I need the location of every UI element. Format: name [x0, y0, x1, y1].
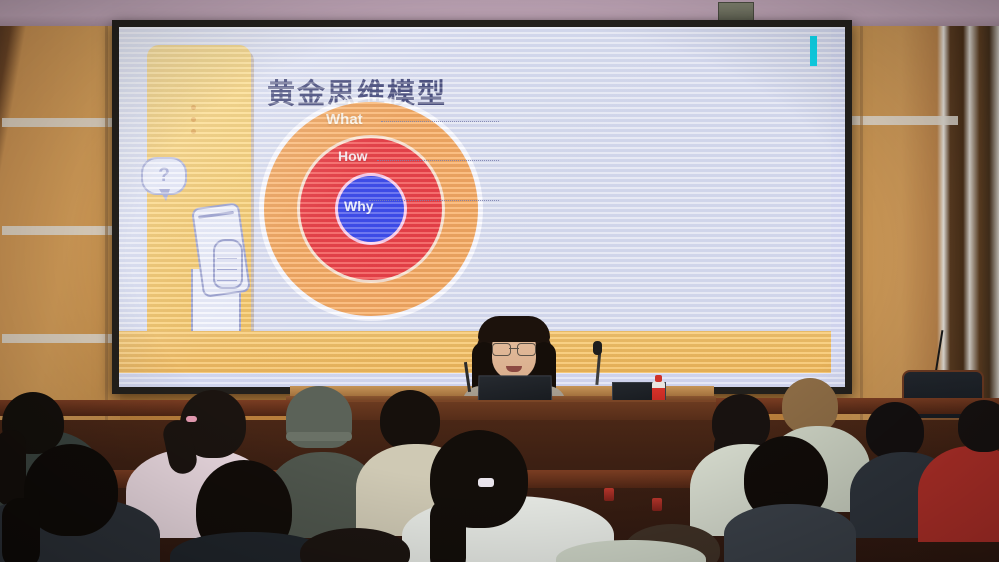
wall-edge: [105, 26, 108, 422]
question-bubble-icon: ?: [141, 157, 187, 195]
wall-edge: [860, 26, 863, 422]
hair-tie: [186, 416, 197, 422]
question-mark-glyph: ?: [143, 163, 185, 188]
screen-cyan-marker: [810, 36, 817, 66]
leader-line-how: [377, 160, 499, 161]
wall-seam: [838, 116, 958, 125]
wall-seam: [2, 118, 114, 127]
left-wall-panels: [0, 24, 120, 424]
ring-label-how: How: [338, 148, 368, 164]
beanie-band: [286, 432, 352, 441]
ring-label-what: What: [326, 111, 363, 128]
microphone-head-icon: [593, 341, 602, 355]
wall-seam: [2, 226, 114, 235]
hair-tie: [478, 478, 494, 487]
bottle-cap: [655, 375, 662, 382]
golden-circle-diagram: What How Why: [264, 102, 492, 330]
audience-ponytail: [2, 498, 40, 562]
leader-line-why: [369, 200, 499, 201]
cup: [604, 488, 614, 501]
cup: [652, 498, 662, 511]
presenter-bangs: [478, 316, 550, 342]
audience-ponytail: [0, 430, 26, 506]
audience-ponytail: [430, 498, 466, 562]
leader-line-what: [381, 121, 499, 122]
audience-head: [958, 400, 999, 452]
slide-dots-decoration: [191, 105, 196, 141]
glasses-icon: [492, 343, 536, 355]
wall-seam: [2, 334, 114, 343]
lecture-hall-photo: ? 黄金思维模型 What How Why: [0, 0, 999, 562]
fingers-shape: [213, 239, 243, 289]
audience-member: [724, 504, 856, 562]
